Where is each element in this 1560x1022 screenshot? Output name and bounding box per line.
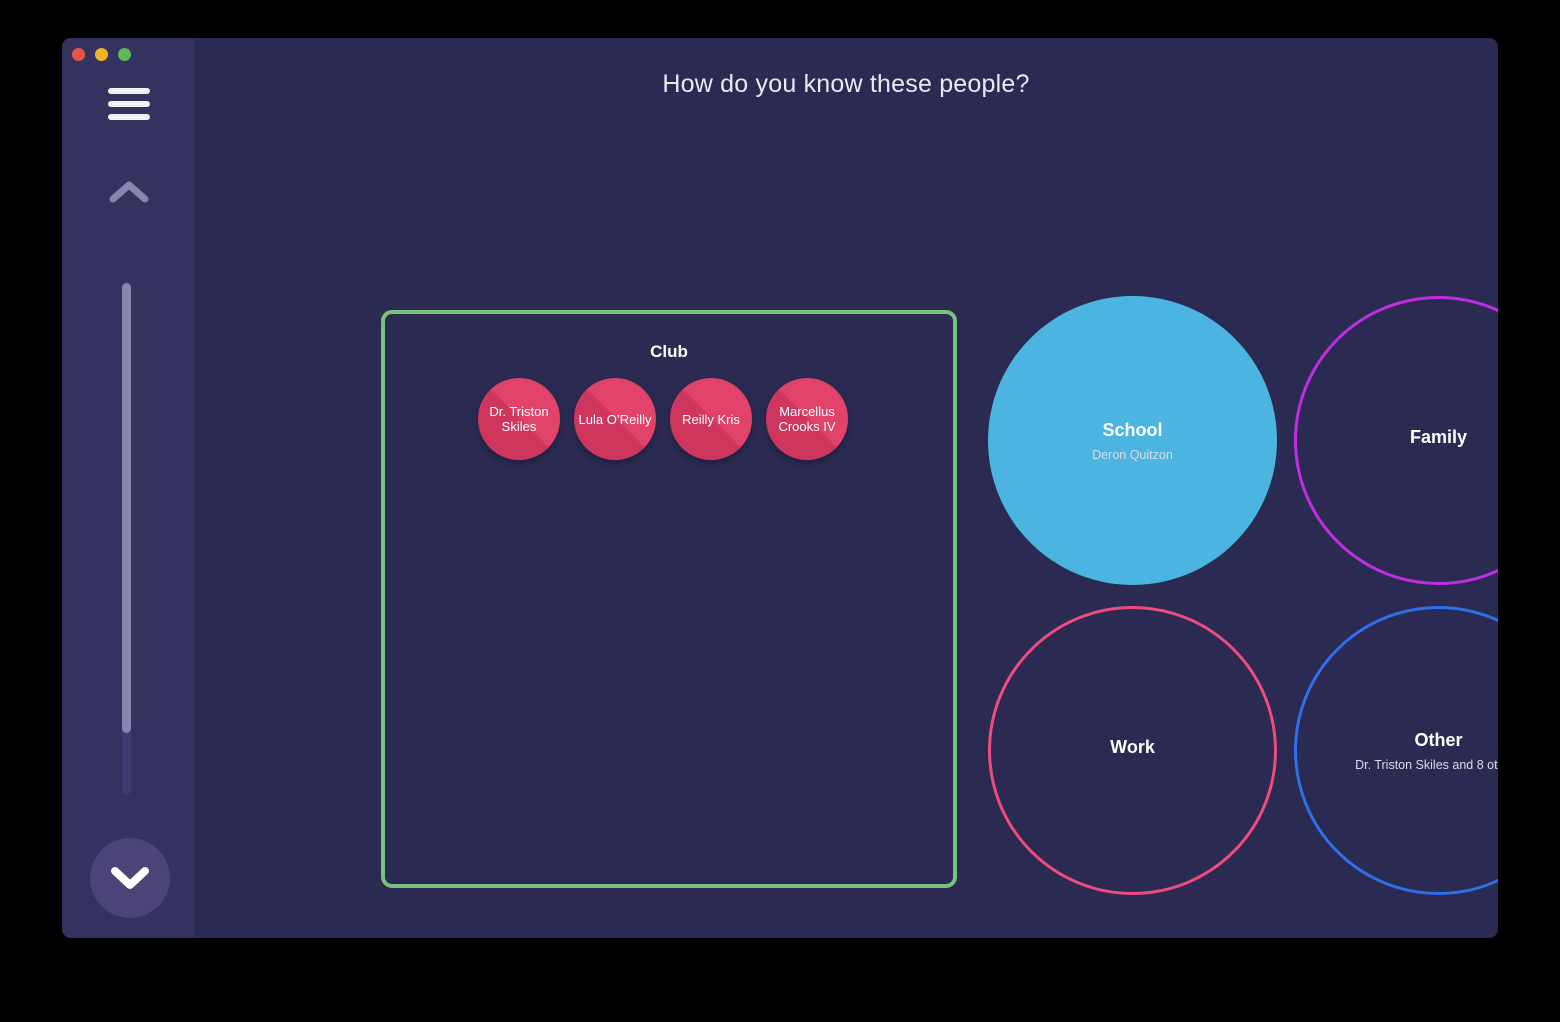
window-controls (72, 48, 131, 61)
category-circle-school[interactable]: School Deron Quitzon (988, 296, 1277, 585)
hamburger-bar (108, 101, 150, 107)
group-box-club[interactable]: Club Dr. Triston Skiles Lula O’Reilly Re… (381, 310, 957, 888)
category-title: Other (1414, 730, 1462, 751)
category-subtitle: Deron Quitzon (1092, 448, 1173, 462)
close-button[interactable] (72, 48, 85, 61)
category-subtitle: Dr. Triston Skiles and 8 others (1355, 758, 1498, 772)
page-title: How do you know these people? (194, 70, 1498, 99)
person-name: Dr. Triston Skiles (480, 404, 558, 434)
chevron-up-icon[interactable] (108, 178, 150, 206)
main-content: How do you know these people? Club Dr. T… (194, 38, 1498, 938)
app-window: How do you know these people? Club Dr. T… (62, 38, 1498, 938)
person-name: Reilly Kris (682, 412, 740, 427)
person-bubble[interactable]: Dr. Triston Skiles (478, 378, 560, 460)
category-title: Family (1410, 427, 1467, 448)
person-bubble[interactable]: Reilly Kris (670, 378, 752, 460)
person-name: Lula O’Reilly (579, 412, 652, 427)
people-list: Dr. Triston Skiles Lula O’Reilly Reilly … (478, 378, 848, 460)
group-box-title: Club (385, 342, 953, 362)
category-circle-work[interactable]: Work (988, 606, 1277, 895)
hamburger-bar (108, 88, 150, 94)
zoom-button[interactable] (118, 48, 131, 61)
category-circle-family[interactable]: Family (1294, 296, 1498, 585)
category-title: Work (1110, 737, 1155, 758)
person-bubble[interactable]: Lula O’Reilly (574, 378, 656, 460)
scrollbar-track[interactable] (122, 283, 131, 795)
hamburger-icon[interactable] (108, 88, 150, 120)
person-bubble[interactable]: Marcellus Crooks IV (766, 378, 848, 460)
category-circle-other[interactable]: Other Dr. Triston Skiles and 8 others (1294, 606, 1498, 895)
minimize-button[interactable] (95, 48, 108, 61)
hamburger-bar (108, 114, 150, 120)
sidebar (62, 38, 194, 938)
person-name: Marcellus Crooks IV (768, 404, 846, 434)
chevron-down-icon (108, 863, 152, 893)
scrollbar-thumb[interactable] (122, 283, 131, 733)
scroll-down-button[interactable] (90, 838, 170, 918)
category-title: School (1102, 420, 1162, 441)
